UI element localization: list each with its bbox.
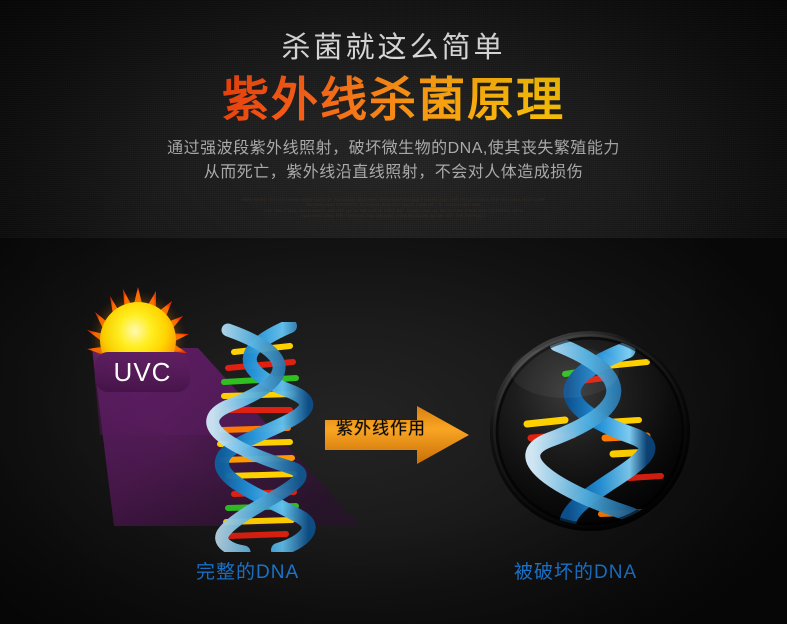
page-title: 紫外线杀菌原理	[0, 72, 787, 128]
uvc-label-text: UVC	[114, 359, 172, 385]
kicker-text: 杀菌就这么简单	[0, 28, 787, 68]
damaged-dna-sphere	[487, 328, 693, 534]
uvc-label: UVC	[95, 352, 190, 392]
lede-line-1: 通过强波段紫外线照射，破坏微生物的DNA,使其丧失繁殖能力	[0, 137, 787, 161]
dna-intact-graphic	[198, 322, 328, 552]
arrow-label: 紫外线作用	[336, 418, 426, 440]
uvc-sterilization-infographic: 杀菌就这么简单 紫外线杀菌原理 通过强波段紫外线照射，破坏微生物的DNA,使其丧…	[0, 0, 787, 624]
lede-paragraph: 通过强波段紫外线照射，破坏微生物的DNA,使其丧失繁殖能力 从而死亡，紫外线沿直…	[0, 137, 787, 185]
caption-damaged-dna: 被破坏的DNA	[514, 560, 637, 586]
microprint-line-4: SAW HOW LONG THE FOOTHILL HAD AROUND THE…	[0, 214, 787, 219]
microprint-block: HERE WERE TWO OR THREE MORE DAYS OF PLEA…	[0, 198, 787, 220]
caption-intact-dna: 完整的DNA	[196, 560, 299, 586]
lede-line-2: 从而死亡，紫外线沿直线照射，不会对人体造成损伤	[0, 161, 787, 185]
header-block: 杀菌就这么简单 紫外线杀菌原理 通过强波段紫外线照射，破坏微生物的DNA,使其丧…	[0, 28, 787, 185]
